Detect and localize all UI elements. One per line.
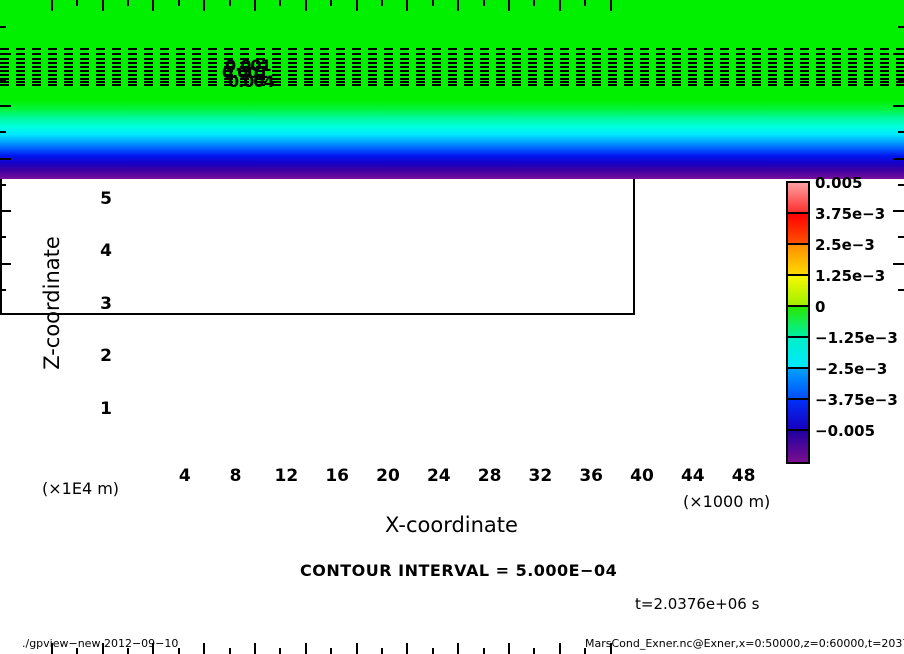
colorbar-segment	[788, 214, 808, 245]
y-axis-title: Z-coordinate	[40, 236, 64, 370]
y-tick	[0, 131, 6, 133]
contour-line	[0, 78, 635, 80]
contour-color-field	[0, 0, 635, 179]
colorbar-tick-label: −1.25e−3	[815, 329, 898, 347]
contour-line	[0, 66, 635, 68]
x-tick-top	[305, 0, 307, 11]
contour-inline-label: 0.004	[228, 72, 274, 91]
y-tick	[0, 210, 11, 212]
x-tick-top	[432, 0, 434, 6]
x-tick-top	[229, 0, 231, 6]
x-tick-label: 32	[529, 466, 553, 486]
contour-field	[0, 0, 635, 179]
colorbar-tick-label: −3.75e−3	[815, 391, 898, 409]
colorbar-segment	[788, 307, 808, 338]
x-tick-top	[76, 0, 78, 6]
colorbar-tick-label: 0.005	[815, 174, 862, 192]
x-axis-title: X-coordinate	[134, 513, 769, 537]
colorbar-segment	[788, 369, 808, 400]
x-tick-top	[254, 0, 256, 11]
x-tick-top	[406, 0, 408, 11]
y-tick	[0, 26, 6, 28]
colorbar-tick-label: −2.5e−3	[815, 360, 887, 378]
x-tick-top	[584, 0, 586, 6]
contour-line	[0, 48, 635, 50]
x-tick-top	[203, 0, 205, 11]
y-tick	[0, 53, 11, 55]
x-tick-label: 36	[579, 466, 603, 486]
contour-line	[0, 53, 635, 55]
x-tick-top	[483, 0, 485, 6]
y-tick	[0, 79, 6, 81]
x-tick-label: 16	[325, 466, 349, 486]
y-tick	[0, 184, 6, 186]
x-tick-top	[152, 0, 154, 11]
x-tick-top	[381, 0, 383, 6]
contour-line	[0, 62, 635, 64]
y-tick-label: 3	[100, 294, 112, 314]
x-tick-top	[508, 0, 510, 11]
x-tick-label: 4	[179, 466, 191, 486]
contour-line	[0, 58, 635, 60]
x-tick-label: 8	[230, 466, 242, 486]
x-tick-top	[559, 0, 561, 11]
footer-command-label: ./gpview−new 2012−09−10	[22, 637, 178, 650]
colorbar-tick-label: 3.75e−3	[815, 205, 885, 223]
colorbar-tick-label: 0	[815, 298, 825, 316]
colorbar-segment	[788, 276, 808, 307]
y-tick	[0, 236, 6, 238]
colorbar-segment	[788, 338, 808, 369]
x-tick-top	[102, 0, 104, 11]
colorbar-tick-label: −0.005	[815, 422, 875, 440]
y-tick	[0, 263, 11, 265]
colorbar-tick-label: 2.5e−3	[815, 236, 875, 254]
footer-source-label: MarsCond_Exner.nc@Exner,x=0:50000,z=0:60…	[585, 637, 904, 650]
x-tick-top	[356, 0, 358, 11]
x-tick-top	[178, 0, 180, 6]
x-tick-label: 28	[478, 466, 502, 486]
x-tick-top	[330, 0, 332, 6]
y-tick-label: 1	[100, 399, 112, 419]
x-axis-unit-label: (×1000 m)	[683, 492, 770, 511]
x-tick-top	[610, 0, 612, 11]
x-tick-top	[533, 0, 535, 6]
y-tick	[0, 158, 11, 160]
x-tick-label: 24	[427, 466, 451, 486]
x-tick-top	[279, 0, 281, 6]
colorbar-segment	[788, 400, 808, 431]
x-tick-top	[51, 0, 53, 11]
colorbar-segment	[788, 183, 808, 214]
timestamp-label: t=2.0376e+06 s	[635, 595, 759, 613]
contour-line	[0, 70, 635, 72]
y-tick-label: 4	[100, 241, 112, 261]
y-tick	[0, 289, 6, 291]
x-tick-label: 20	[376, 466, 400, 486]
x-tick-top	[457, 0, 459, 11]
x-tick-label: 48	[732, 466, 756, 486]
x-tick-top	[127, 0, 129, 6]
x-tick-label: 40	[630, 466, 654, 486]
x-tick-label: 12	[275, 466, 299, 486]
contour-line	[0, 81, 635, 83]
contour-line	[0, 84, 635, 86]
y-tick	[0, 105, 11, 107]
colorbar-segment	[788, 431, 808, 462]
colorbar	[786, 181, 810, 464]
y-tick-label: 5	[100, 189, 112, 209]
colorbar-tick-label: 1.25e−3	[815, 267, 885, 285]
colorbar-segment	[788, 245, 808, 276]
contour-interval-label: CONTOUR INTERVAL = 5.000E−04	[300, 561, 617, 580]
y-axis-unit-label: (×1E4 m)	[42, 479, 119, 498]
plot-area: 0.001 0.001 0.004	[0, 0, 635, 315]
x-tick-label: 44	[681, 466, 705, 486]
y-tick-label: 2	[100, 346, 112, 366]
contour-line	[0, 74, 635, 76]
